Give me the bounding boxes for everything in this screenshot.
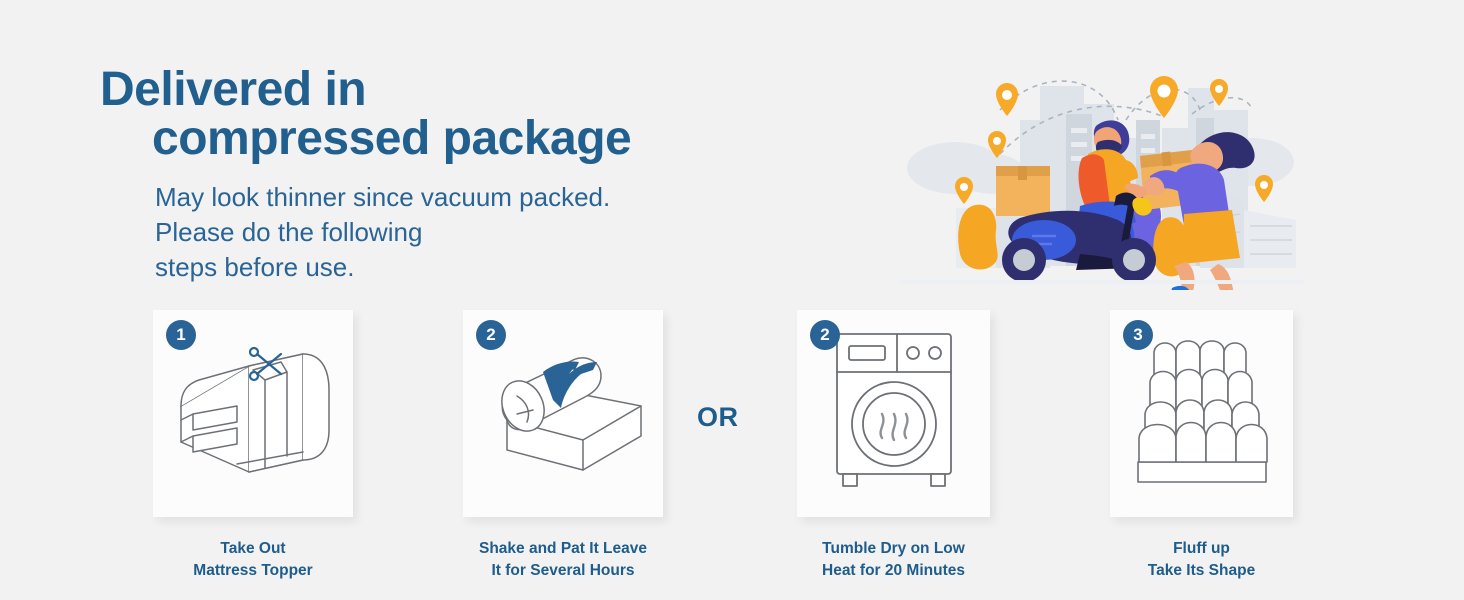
step-caption-4-line-1: Fluff up [1110,538,1293,560]
step-card-1-image: 1 [153,310,353,517]
step-card-2: 2 [463,310,663,517]
step-card-2-image: 2 [463,310,663,517]
step-card-3: 2 [797,310,990,517]
or-separator-label: OR [697,402,739,433]
subtext-line-1: May look thinner since vacuum packed. [155,180,610,215]
headline-block: Delivered in compressed package [100,66,740,164]
headline-line-1: Delivered in [100,63,366,116]
step-badge-3: 2 [810,320,840,350]
delivery-illustration [900,58,1304,290]
map-pin-icon [955,177,973,204]
subtext-line-2: Please do the following [155,215,610,250]
promo-banner: Delivered in compressed package May look… [0,0,1464,600]
map-pin-icon [1150,76,1178,118]
subtext-block: May look thinner since vacuum packed. Pl… [155,180,610,284]
step-badge-1: 1 [166,320,196,350]
step-card-3-image: 2 [797,310,990,517]
map-pin-icon [1255,175,1273,202]
step-caption-2-line-1: Shake and Pat It Leave [463,538,663,560]
step-card-4-image: 3 [1110,310,1293,517]
step-caption-3-line-1: Tumble Dry on Low [797,538,990,560]
step-badge-4: 3 [1123,320,1153,350]
step-caption-1-line-1: Take Out [153,538,353,560]
step-caption-4: Fluff up Take Its Shape [1110,538,1293,582]
step-caption-3: Tumble Dry on Low Heat for 20 Minutes [797,538,990,582]
step-caption-2: Shake and Pat It Leave It for Several Ho… [463,538,663,582]
map-pin-icon [996,83,1018,116]
step-card-4: 3 [1110,310,1293,517]
page-title: Delivered in compressed package [100,66,740,164]
step-badge-2: 2 [476,320,506,350]
headline-line-2: compressed package [100,115,740,164]
step-caption-1-line-2: Mattress Topper [153,560,353,582]
step-card-1: 1 [153,310,353,517]
subtext-line-3: steps before use. [155,250,610,285]
step-caption-4-line-2: Take Its Shape [1110,560,1293,582]
step-caption-2-line-2: It for Several Hours [463,560,663,582]
cardboard-box [996,166,1050,216]
step-caption-3-line-2: Heat for 20 Minutes [797,560,990,582]
steps-row: 1 [0,310,1464,590]
step-caption-1: Take Out Mattress Topper [153,538,353,582]
